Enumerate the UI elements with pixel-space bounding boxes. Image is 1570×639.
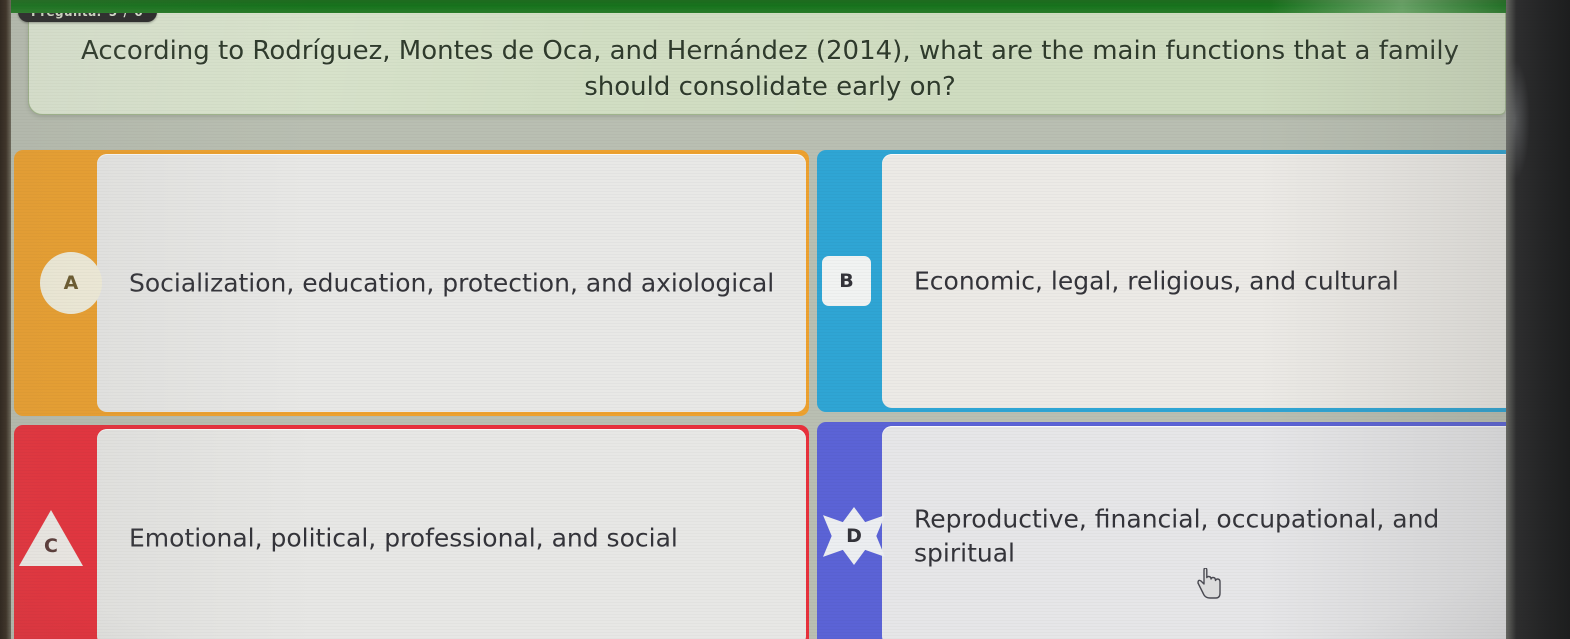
answer-b-letter: B: [839, 270, 853, 292]
answer-a-letter-badge: A: [40, 252, 102, 314]
answer-a-text: Socialization, education, protection, an…: [129, 266, 782, 300]
quiz-screen: According to Rodríguez, Montes de Oca, a…: [0, 0, 1570, 639]
answer-d-card: Reproductive, financial, occupational, a…: [882, 426, 1544, 639]
answer-b-card: Economic, legal, religious, and cultural: [882, 154, 1544, 408]
answer-c-card: Emotional, political, professional, and …: [97, 429, 806, 639]
answer-option-a[interactable]: Socialization, education, protection, an…: [14, 150, 809, 416]
question-panel: According to Rodríguez, Montes de Oca, a…: [28, 11, 1506, 115]
answer-c-text: Emotional, political, professional, and …: [129, 521, 782, 555]
answer-c-letter-badge: C: [19, 510, 83, 566]
answer-d-text: Reproductive, financial, occupational, a…: [914, 503, 1520, 570]
answer-options: Socialization, education, protection, an…: [11, 150, 1536, 639]
pointing-hand-cursor: [1196, 568, 1224, 600]
answer-b-letter-badge: B: [822, 256, 871, 306]
answer-b-text: Economic, legal, religious, and cultural: [914, 264, 1520, 298]
answer-option-b[interactable]: Economic, legal, religious, and cultural…: [817, 150, 1547, 412]
app-top-bar: [0, 0, 1570, 13]
answer-a-letter: A: [64, 272, 79, 294]
question-text: According to Rodríguez, Montes de Oca, a…: [55, 34, 1485, 106]
answer-d-letter: D: [846, 525, 862, 547]
top-bar-highlight: [1270, 0, 1510, 13]
photo-left-edge: [0, 0, 11, 639]
answer-d-letter-badge: D: [823, 507, 885, 565]
answer-option-c[interactable]: Emotional, political, professional, and …: [14, 425, 809, 639]
answer-option-d[interactable]: Reproductive, financial, occupational, a…: [817, 422, 1547, 639]
answer-c-letter: C: [44, 535, 58, 557]
question-line-1: According to Rodríguez, Montes de Oca, a…: [55, 34, 1485, 70]
question-line-2: should consolidate early on?: [55, 70, 1485, 106]
answer-a-card: Socialization, education, protection, an…: [97, 154, 806, 412]
photo-right-glare: [1500, 60, 1530, 180]
